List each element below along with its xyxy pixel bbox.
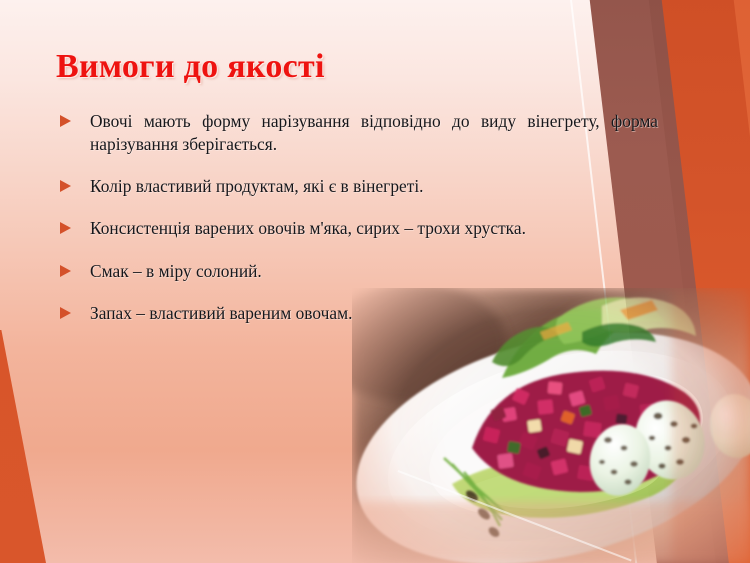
list-item: Овочі мають форму нарізування відповідно… xyxy=(58,110,658,156)
triangle-right-icon xyxy=(60,115,71,127)
slide-title: Вимоги до якості xyxy=(56,48,325,86)
list-item: Консистенція варених овочів м'яка, сирих… xyxy=(58,217,658,240)
list-item-text: Колір властивий продуктам, які є в вінег… xyxy=(90,176,424,196)
triangle-right-icon xyxy=(60,265,71,277)
presentation-slide: Вимоги до якості Овочі мають форму наріз… xyxy=(0,0,750,563)
list-item-text: Овочі мають форму нарізування відповідно… xyxy=(90,111,658,154)
list-item-text: Запах – властивий вареним овочам. xyxy=(90,303,352,323)
list-item-text: Смак – в міру солоний. xyxy=(90,261,262,281)
bullet-list: Овочі мають форму нарізування відповідно… xyxy=(58,110,658,325)
list-item-text: Консистенція варених овочів м'яка, сирих… xyxy=(90,218,526,238)
triangle-right-icon xyxy=(60,307,71,319)
triangle-right-icon xyxy=(60,222,71,234)
list-item: Смак – в міру солоний. xyxy=(58,260,658,283)
triangle-right-icon xyxy=(60,180,71,192)
list-item: Запах – властивий вареним овочам. xyxy=(58,302,658,325)
salad-photo xyxy=(352,288,750,563)
decor-wedge-left xyxy=(0,330,46,563)
list-item: Колір властивий продуктам, які є в вінег… xyxy=(58,175,658,198)
